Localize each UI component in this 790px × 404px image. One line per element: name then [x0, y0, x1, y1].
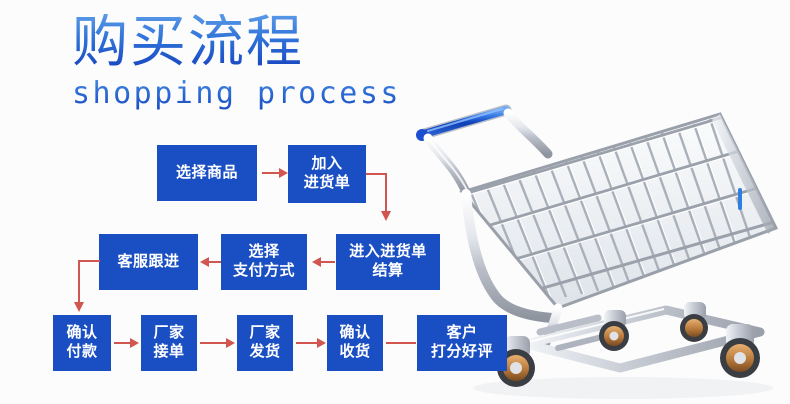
connector-add-to-settlement-h	[366, 173, 387, 175]
arrowhead-confirm-payment-to-factory-accept	[130, 338, 139, 348]
page-title: 购买流程 shopping process	[72, 14, 401, 111]
connector-payment-to-service	[209, 261, 221, 263]
flow-box-factory-ship[interactable]: 厂家 发货	[237, 315, 293, 371]
flow-box-label-2: 支付方式	[233, 262, 295, 281]
flow-box-label: 选择商品	[176, 164, 238, 183]
flow-box-customer-rating[interactable]: 客户 打分好评	[417, 315, 507, 371]
flow-box-enter-order-settlement[interactable]: 进入进货单 结算	[336, 234, 440, 290]
arrowhead-ship-to-confirm-receipt	[317, 338, 326, 348]
title-english: shopping process	[72, 76, 401, 111]
flow-box-label: 确认	[339, 324, 370, 343]
arrowhead-factory-accept-to-ship	[226, 338, 235, 348]
flow-box-factory-accept-order[interactable]: 厂家 接单	[141, 315, 197, 371]
connector-factory-accept-to-ship	[200, 342, 226, 344]
connector-select-to-add	[262, 172, 279, 174]
shopping-process-banner: 购买流程 shopping process	[0, 0, 790, 404]
flow-box-confirm-receipt[interactable]: 确认 收货	[327, 315, 383, 371]
connector-service-to-payment-h	[78, 260, 100, 262]
connector-settlement-to-payment	[321, 261, 335, 263]
flow-box-label-2: 收货	[339, 343, 370, 362]
flow-box-label: 选择	[248, 243, 279, 262]
flow-box-label-2: 打分好评	[431, 343, 493, 362]
connector-add-to-settlement-v	[385, 173, 387, 213]
title-chinese: 购买流程	[72, 14, 401, 70]
flow-box-confirm-payment[interactable]: 确认 付款	[53, 315, 111, 371]
arrowhead-payment-to-service	[200, 257, 209, 267]
flow-box-label: 厂家	[153, 324, 184, 343]
flow-box-label-2: 发货	[249, 343, 280, 362]
flow-box-label: 进入进货单	[349, 243, 427, 262]
flow-box-label: 加入	[311, 155, 342, 174]
flow-box-add-to-order[interactable]: 加入 进货单	[288, 145, 366, 203]
connector-service-to-payment-v	[78, 260, 80, 304]
arrowhead-add-to-settlement	[381, 211, 391, 221]
connector-receipt-to-rating	[386, 342, 416, 344]
flow-box-label: 确认	[66, 324, 97, 343]
flow-box-label-2: 结算	[372, 262, 403, 281]
flow-box-choose-payment[interactable]: 选择 支付方式	[221, 234, 307, 290]
arrowhead-settlement-to-payment	[312, 257, 321, 267]
flow-box-customer-service-followup[interactable]: 客服跟进	[99, 234, 198, 290]
arrowhead-select-to-add	[279, 168, 288, 178]
connector-confirm-payment-to-factory-accept	[114, 342, 130, 344]
connector-ship-to-confirm-receipt	[296, 342, 317, 344]
flow-box-label-2: 接单	[153, 343, 184, 362]
flow-box-label-2: 进货单	[304, 174, 351, 193]
flow-box-select-goods[interactable]: 选择商品	[157, 145, 257, 201]
flow-box-label: 客户	[446, 324, 477, 343]
flow-box-label: 厂家	[249, 324, 280, 343]
arrowhead-service-to-confirm-payment	[74, 302, 84, 312]
flow-box-label: 客服跟进	[117, 253, 179, 272]
flow-box-label-2: 付款	[66, 343, 97, 362]
